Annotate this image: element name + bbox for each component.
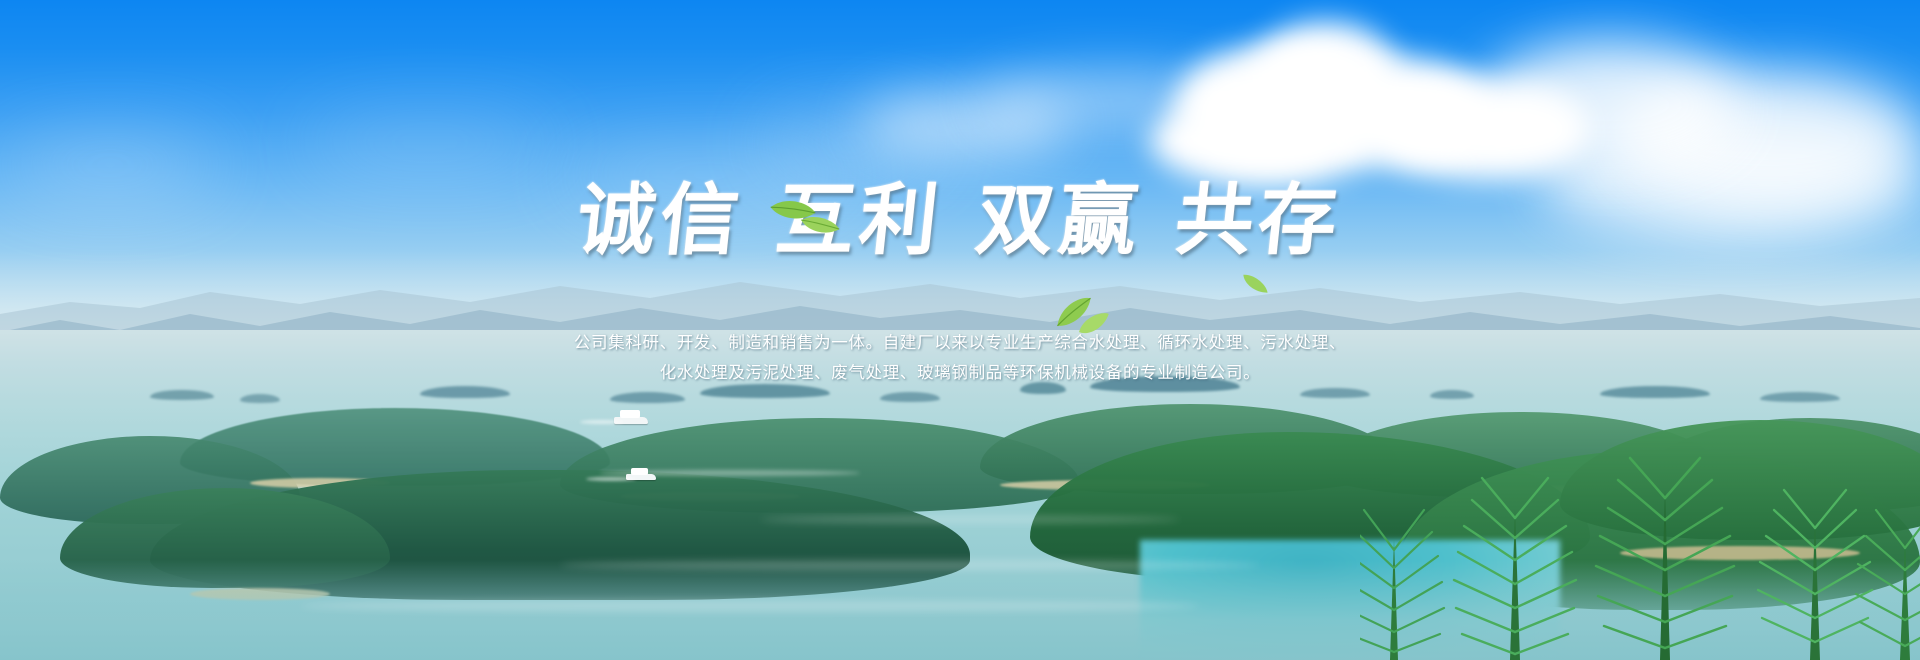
- water-ripple-3: [760, 516, 1180, 523]
- boat-upper: [614, 408, 648, 426]
- headline-word-4: 共存: [1171, 175, 1346, 266]
- water-ripple-2: [300, 600, 1200, 612]
- islet-far-6: [880, 392, 940, 402]
- subtitle-line-2: 化水处理及污泥处理、废气处理、玻璃钢制品等环保机械设备的专业制造公司。: [0, 358, 1920, 388]
- water-ripple-1: [560, 560, 1260, 570]
- cloud-cumulus-c: [1320, 58, 1490, 168]
- headline-word-3: 双赢: [972, 175, 1147, 266]
- islet-far-1: [150, 390, 214, 400]
- foreground-pine-branches: [1360, 410, 1920, 660]
- subtitle-line-1: 公司集科研、开发、制造和销售为一体。自建厂以来以专业生产综合水处理、循环水处理、…: [0, 328, 1920, 358]
- islet-far-2: [240, 394, 280, 403]
- islet-far-9: [1300, 388, 1370, 398]
- islet-far-10: [1430, 390, 1474, 399]
- banner-subtitle: 公司集科研、开发、制造和销售为一体。自建厂以来以专业生产综合水处理、循环水处理、…: [0, 328, 1920, 388]
- islet-far-4: [610, 392, 685, 403]
- headline-word-1: 诚信: [573, 175, 748, 266]
- banner-headline: 诚信互利双赢共存: [0, 158, 1920, 270]
- hero-banner: 诚信互利双赢共存 公司集科研、开发、制造和销售为一体。自建厂以来以专业生产综合水…: [0, 0, 1920, 660]
- boat-lower: [626, 466, 656, 482]
- islet-far-12: [1760, 392, 1840, 402]
